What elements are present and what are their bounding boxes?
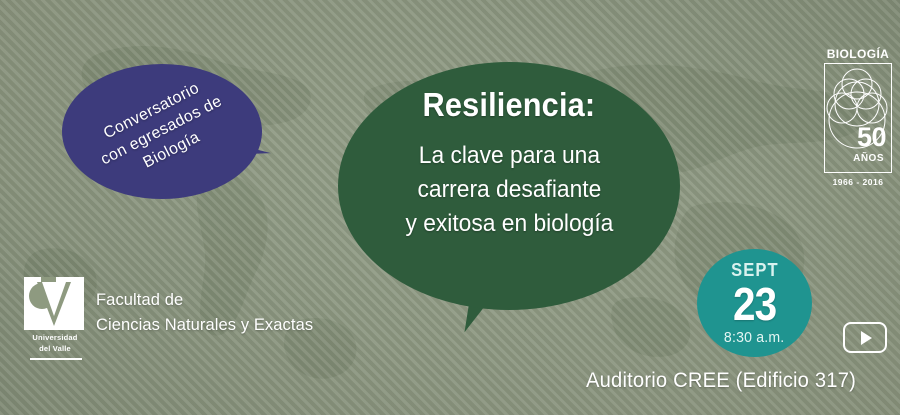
poster-canvas: Conversatorio con egresados de Biología … <box>0 0 900 415</box>
event-month: SEPT <box>731 261 779 279</box>
biologia-logo-title: BIOLOGÍA <box>822 48 894 60</box>
green-bubble-text: Resiliencia: La clave para una carrera d… <box>338 62 680 310</box>
event-title: Resiliencia: <box>423 88 596 123</box>
event-time: 8:30 a.m. <box>724 330 784 345</box>
univalle-logo: Universidad del Valle <box>24 277 88 355</box>
event-day: 23 <box>733 281 776 327</box>
event-subtitle: La clave para una carrera desafiante y e… <box>405 139 613 241</box>
univalle-logo-mark <box>24 277 84 330</box>
date-bubble-text: SEPT 23 8:30 a.m. <box>697 249 812 357</box>
biologia-50-logo: BIOLOGÍA 50 AÑOS 1966 - 2016 <box>822 48 894 208</box>
subtitle-line-1: La clave para una <box>405 139 613 173</box>
univalle-underline <box>30 358 82 360</box>
biologia-logo-frame: 50 AÑOS <box>824 63 892 173</box>
play-icon <box>861 331 872 345</box>
faculty-name: Facultad de Ciencias Naturales y Exactas <box>96 288 313 337</box>
univalle-name-line-1: Universidad <box>24 333 86 344</box>
univalle-name: Universidad del Valle <box>24 333 86 355</box>
faculty-line-2: Ciencias Naturales y Exactas <box>96 313 313 338</box>
subtitle-line-2: carrera desafiante <box>405 173 613 207</box>
subtitle-line-3: y exitosa en biología <box>405 207 613 241</box>
anniversary-word: AÑOS <box>853 154 884 164</box>
venue-text: Auditorio CREE (Edificio 317) <box>586 369 856 393</box>
purple-bubble-text: Conversatorio con egresados de Biología <box>62 64 262 199</box>
play-button[interactable] <box>843 322 887 353</box>
anniversary-number: 50 <box>857 124 886 151</box>
faculty-line-1: Facultad de <box>96 288 313 313</box>
univalle-name-line-2: del Valle <box>24 344 86 355</box>
anniversary-years: 1966 - 2016 <box>822 177 894 187</box>
